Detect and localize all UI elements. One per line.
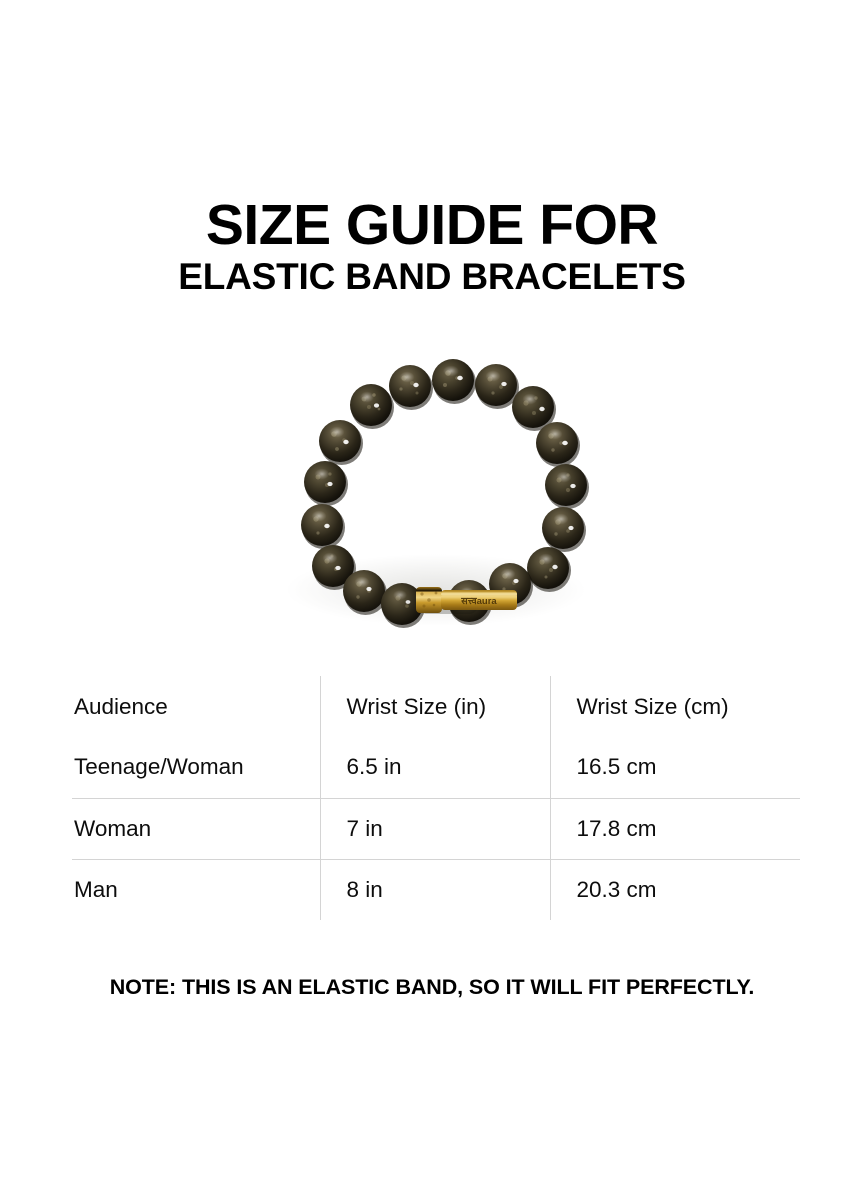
column-header-wrist-size-cm: Wrist Size (cm) — [550, 676, 800, 737]
size-guide-page: SIZE GUIDE FOR ELASTIC BAND BRACELETS — [0, 0, 864, 1184]
cell-wrist-size-in: 7 in — [320, 798, 550, 859]
charm-engraving-text: सत्त्वaura — [460, 596, 497, 607]
page-title: SIZE GUIDE FOR — [0, 196, 864, 254]
column-header-wrist-size-in: Wrist Size (in) — [320, 676, 550, 737]
page-heading: SIZE GUIDE FOR ELASTIC BAND BRACELETS — [0, 196, 864, 298]
cell-wrist-size-in: 6.5 in — [320, 737, 550, 798]
page-subtitle: ELASTIC BAND BRACELETS — [0, 256, 864, 298]
bracelet-illustration: सत्त्वaura — [250, 342, 614, 642]
cell-audience: Woman — [72, 798, 320, 859]
footer-note: NOTE: THIS IS AN ELASTIC BAND, SO IT WIL… — [0, 974, 864, 1000]
table-row: Teenage/Woman 6.5 in 16.5 cm — [72, 737, 800, 798]
table-header-row: Audience Wrist Size (in) Wrist Size (cm) — [72, 676, 800, 737]
table-row: Man 8 in 20.3 cm — [72, 859, 800, 920]
cell-wrist-size-cm: 16.5 cm — [550, 737, 800, 798]
cell-audience: Teenage/Woman — [72, 737, 320, 798]
table-row: Woman 7 in 17.8 cm — [72, 798, 800, 859]
cell-wrist-size-cm: 17.8 cm — [550, 798, 800, 859]
size-table: Audience Wrist Size (in) Wrist Size (cm)… — [72, 676, 800, 920]
gold-charm: सत्त्वaura — [416, 587, 517, 614]
column-header-audience: Audience — [72, 676, 320, 737]
cell-wrist-size-cm: 20.3 cm — [550, 859, 800, 920]
cell-wrist-size-in: 8 in — [320, 859, 550, 920]
cell-audience: Man — [72, 859, 320, 920]
product-image: सत्त्वaura — [250, 342, 614, 642]
